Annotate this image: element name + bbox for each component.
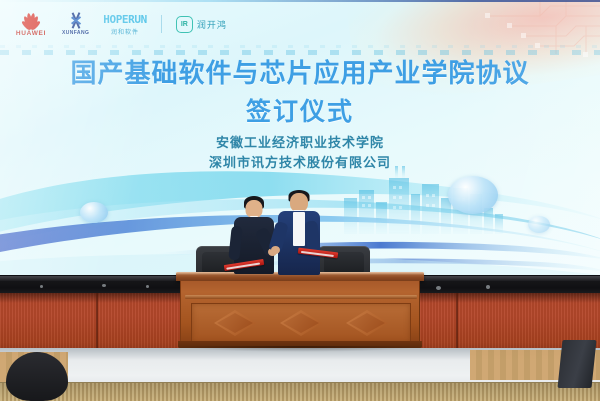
desk-front-panel [191, 303, 411, 343]
hoperun-wordmark-cn: 润和软件 [111, 27, 139, 36]
hoperun-logo: HOPERUN 润和软件 [103, 13, 147, 36]
wall-seam [456, 293, 458, 355]
huawei-logo: HUAWEI [14, 12, 48, 37]
bubble-decor-1 [80, 202, 108, 223]
runhe-openharmony-logo: IR 润开鸿 [176, 16, 227, 33]
desk-shadow [174, 346, 426, 352]
panel-diamond [346, 310, 388, 336]
xunfang-wordmark: XUNFANG [62, 30, 89, 36]
hand [271, 246, 280, 254]
signatory-right [272, 190, 326, 278]
runhe-badge-icon: IR [176, 16, 193, 33]
desk-rail [185, 295, 417, 299]
screen-top-rule [0, 0, 600, 2]
stage-front-shade [0, 382, 600, 401]
bubble-decor-2 [448, 176, 498, 214]
page-title-line2: 签订仪式 [0, 92, 600, 128]
hoperun-wordmark: HOPERUN [103, 13, 147, 26]
shirt-front [293, 212, 305, 246]
page-title-line1: 国产基础软件与芯片应用产业学院协议 [0, 58, 600, 90]
ceiling-speck [102, 284, 106, 287]
wall-seam [96, 293, 98, 355]
ceiling-speck [40, 285, 43, 288]
desk-body [180, 281, 420, 341]
floor-speaker [557, 340, 596, 388]
ceiling-speck [436, 286, 441, 290]
ceiling-speck [486, 285, 490, 289]
dashed-tech-band [0, 50, 600, 55]
runhe-wordmark-cn: 润开鸿 [197, 18, 227, 31]
panel-diamond [214, 310, 256, 336]
ceiling-speck [146, 285, 149, 288]
xunfang-x-icon [64, 12, 88, 29]
signing-desk [180, 272, 420, 350]
xunfang-logo: XUNFANG [62, 12, 89, 36]
bubble-decor-3 [528, 216, 550, 233]
city-skyline-icon [342, 164, 532, 234]
partner-logo-strip: HUAWEI XUNFANG HOPERUN 润和软件 IR 润开鸿 [14, 8, 227, 40]
panel-diamond [280, 310, 322, 336]
huawei-petal-icon [14, 12, 48, 29]
huawei-wordmark: HUAWEI [16, 30, 46, 37]
dashed-tech-band-upper [0, 45, 600, 48]
screenshot-root: HUAWEI XUNFANG HOPERUN 润和软件 IR 润开鸿 国产基础软… [0, 0, 600, 401]
logo-divider [161, 15, 162, 33]
